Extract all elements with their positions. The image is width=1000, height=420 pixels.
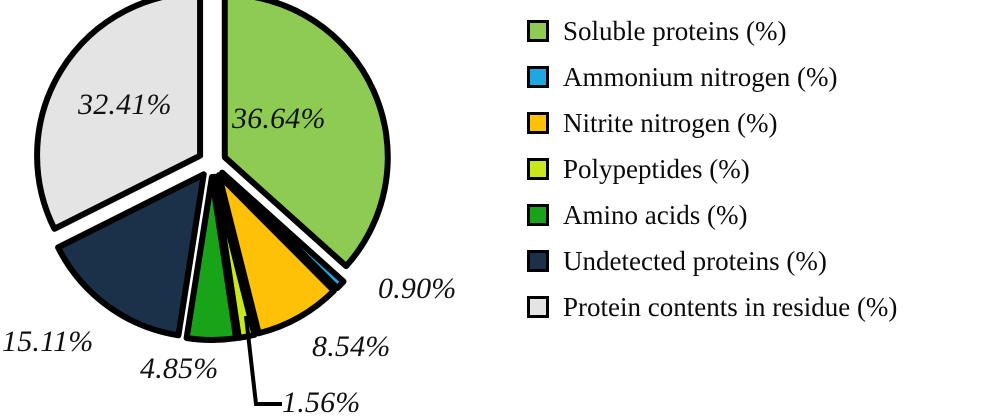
legend-item[interactable]: Polypeptides (%)	[527, 146, 997, 192]
slice-label-soluble-proteins: 36.64%	[232, 102, 326, 136]
slice-label-nitrite-nitrogen: 8.54%	[312, 330, 391, 364]
legend-swatch-icon	[527, 250, 549, 272]
legend-item-label: Protein contents in residue (%)	[563, 294, 897, 321]
legend-item[interactable]: Nitrite nitrogen (%)	[527, 100, 997, 146]
slice-label-polypeptides: 1.56%	[282, 386, 361, 420]
legend-item[interactable]: Undetected proteins (%)	[527, 238, 997, 284]
legend-item-label: Soluble proteins (%)	[563, 18, 786, 45]
legend-item[interactable]: Soluble proteins (%)	[527, 8, 997, 54]
legend-item-label: Nitrite nitrogen (%)	[563, 110, 777, 137]
legend-item[interactable]: Protein contents in residue (%)	[527, 284, 997, 330]
slice-label-undetected-proteins: 15.11%	[2, 325, 93, 359]
pie-chart-figure: 36.64% 32.41% 0.90% 8.54% 1.56% 4.85% 15…	[0, 0, 1000, 418]
slice-label-protein-contents-residue: 32.41%	[78, 88, 172, 122]
legend-item-label: Ammonium nitrogen (%)	[563, 64, 837, 91]
slice-label-ammonium-nitrogen: 0.90%	[378, 272, 457, 306]
legend-swatch-icon	[527, 112, 549, 134]
legend-swatch-icon	[527, 204, 549, 226]
legend-item-label: Amino acids (%)	[563, 202, 747, 229]
legend-swatch-icon	[527, 296, 549, 318]
legend-swatch-icon	[527, 20, 549, 42]
legend-swatch-icon	[527, 66, 549, 88]
pie-chart-area: 36.64% 32.41% 0.90% 8.54% 1.56% 4.85% 15…	[0, 0, 520, 418]
legend-item[interactable]: Ammonium nitrogen (%)	[527, 54, 997, 100]
legend-item[interactable]: Amino acids (%)	[527, 192, 997, 238]
legend-item-label: Undetected proteins (%)	[563, 248, 827, 275]
legend-swatch-icon	[527, 158, 549, 180]
legend-item-label: Polypeptides (%)	[563, 156, 750, 183]
legend: Soluble proteins (%) Ammonium nitrogen (…	[527, 8, 997, 330]
slice-label-amino-acids: 4.85%	[140, 352, 219, 386]
pie-slices-group	[37, 0, 388, 340]
